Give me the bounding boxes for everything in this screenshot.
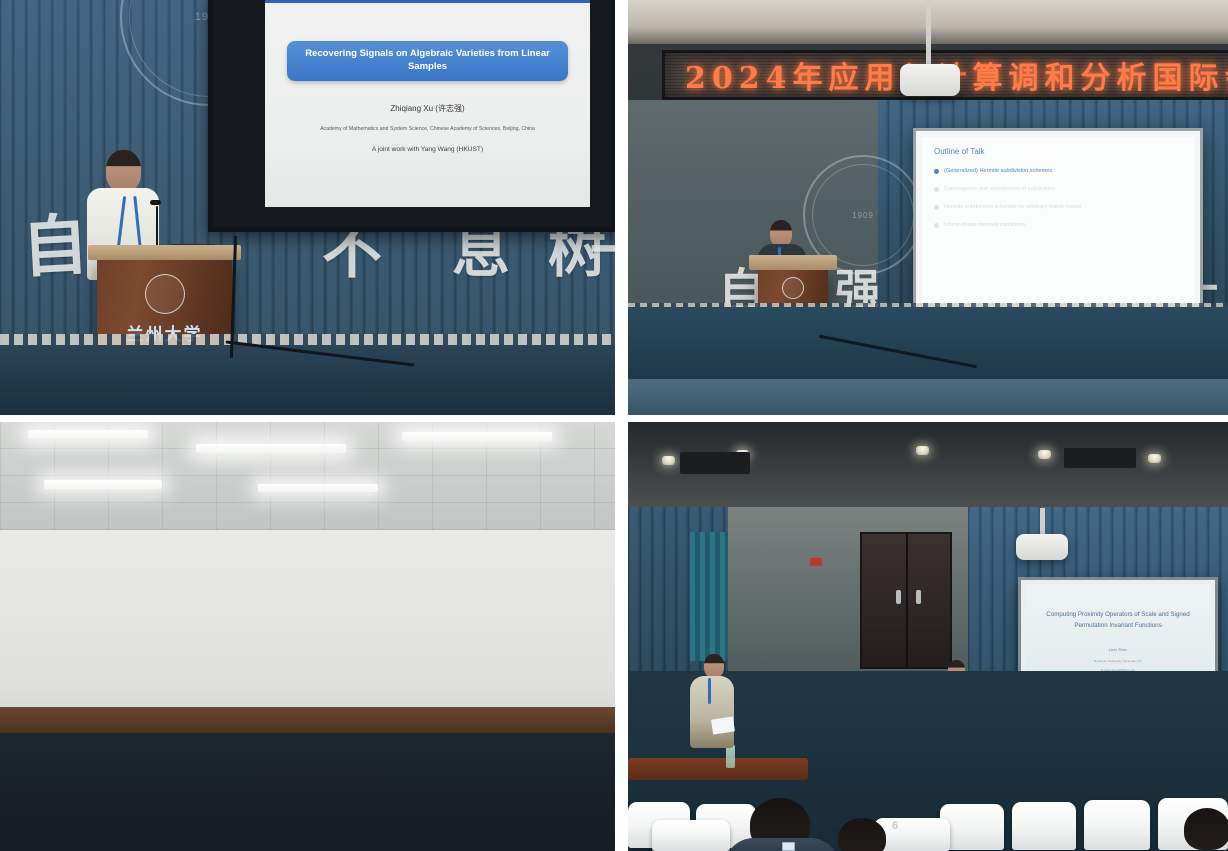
session-chair-body (690, 676, 734, 748)
projection-screen[interactable]: Recovering Signals on Algebraic Varietie… (208, 0, 615, 232)
ceiling-light (1148, 454, 1161, 463)
lanyard (708, 678, 711, 704)
podium-seal-icon (145, 274, 185, 314)
projection-screen[interactable]: Outline of Talk (Generalized) Hermite su… (913, 128, 1203, 313)
photo-collage: 1909 自 不 息 树 一 Recovering Signals on Alg… (0, 0, 1228, 851)
outline-item-label: Hermite subdivision schemes for arbitrar… (944, 204, 1081, 210)
photo-panel-top-left[interactable]: 1909 自 不 息 树 一 Recovering Signals on Alg… (0, 0, 615, 415)
projector (1016, 534, 1068, 560)
photo-panel-bottom-right[interactable]: 2024年应用与计算调和分析 Computing Proximity Opera… (628, 422, 1228, 851)
slide-title: Outline of Talk (934, 147, 1182, 156)
stage-floor (0, 345, 615, 415)
seat (1012, 802, 1076, 850)
bullet-icon (934, 223, 939, 228)
ceiling-vent (680, 452, 750, 474)
projector (900, 64, 960, 96)
exit-door[interactable] (860, 532, 952, 669)
podium-top-surface (749, 255, 837, 270)
room-wall (0, 530, 615, 733)
seat (652, 820, 730, 851)
ceiling-light (402, 432, 552, 441)
floor-and-foreground (0, 733, 615, 851)
ceiling-light (28, 430, 148, 439)
slide-joint-work: A joint work with Yang Wang (HKUST) (277, 146, 578, 153)
ceiling-light (44, 480, 162, 489)
held-papers (711, 717, 735, 735)
outline-slide: Outline of Talk (Generalized) Hermite su… (922, 137, 1194, 304)
ceiling-light (1038, 450, 1051, 459)
photo-panel-top-right[interactable]: 2024年应用与计算调和分析国际会 1909 自 强 不 息 独 一 Outli… (628, 0, 1228, 415)
projector-mount-rod (926, 0, 931, 72)
ceiling-vent (1064, 448, 1136, 468)
bullet-icon (934, 187, 939, 192)
outline-item: Linear-phase moment conditions (934, 222, 1182, 228)
bullet-icon (934, 169, 939, 174)
podium-seal-icon (782, 277, 804, 299)
outline-item-label: Convergence and smoothness of subdivisio… (944, 186, 1055, 192)
slide-author: Lixin Shen (1109, 647, 1128, 652)
slide-title: Computing Proximity Operators of Scale a… (1043, 610, 1193, 631)
door-handle-icon[interactable] (896, 590, 901, 604)
seat-row-number: 6 (892, 820, 906, 834)
audience-head (1184, 808, 1228, 850)
fire-alarm-icon (810, 558, 822, 566)
floor-trim (0, 334, 615, 345)
wall-calligraphy-char: 自 (20, 211, 89, 280)
session-chair-head (704, 654, 724, 678)
podium-top-surface (88, 245, 241, 260)
microphone-stand (156, 206, 158, 248)
ceiling-light (662, 456, 675, 465)
outline-item: (Generalized) Hermite subdivision scheme… (934, 168, 1182, 174)
outline-item-label: (Generalized) Hermite subdivision scheme… (944, 168, 1052, 174)
photo-panel-bottom-left[interactable]: 12 1 3 4 6 8 9 11 File Home Insert Desig… (0, 422, 615, 851)
outline-item: Hermite subdivision schemes for arbitrar… (934, 204, 1182, 210)
outline-item: Convergence and smoothness of subdivisio… (934, 186, 1182, 192)
slide-affiliation: Academy of Mathematics and System Scienc… (277, 126, 578, 132)
front-table (628, 758, 808, 780)
speaker-head (106, 150, 141, 192)
slide-affiliation: Syracuse University, Syracuse, NY (1094, 659, 1142, 663)
slide-author: Zhiqiang Xu (许志强) (277, 103, 578, 114)
outline-item-label: Linear-phase moment conditions (944, 222, 1025, 228)
stage-edge (628, 379, 1228, 415)
title-slide: Recovering Signals on Algebraic Varietie… (265, 0, 590, 207)
name-badge (782, 842, 795, 851)
slide-title: Recovering Signals on Algebraic Varietie… (287, 41, 568, 81)
ceiling-light (258, 484, 378, 492)
audience-head (838, 818, 886, 851)
speaker-head (770, 220, 792, 247)
ceiling-light (196, 444, 346, 453)
microphone-head-icon (150, 200, 161, 205)
ceiling-light (916, 446, 929, 455)
bullet-icon (934, 205, 939, 210)
door-handle-icon[interactable] (916, 590, 921, 604)
wall-dado-trim (0, 707, 615, 733)
seat (1084, 800, 1150, 850)
